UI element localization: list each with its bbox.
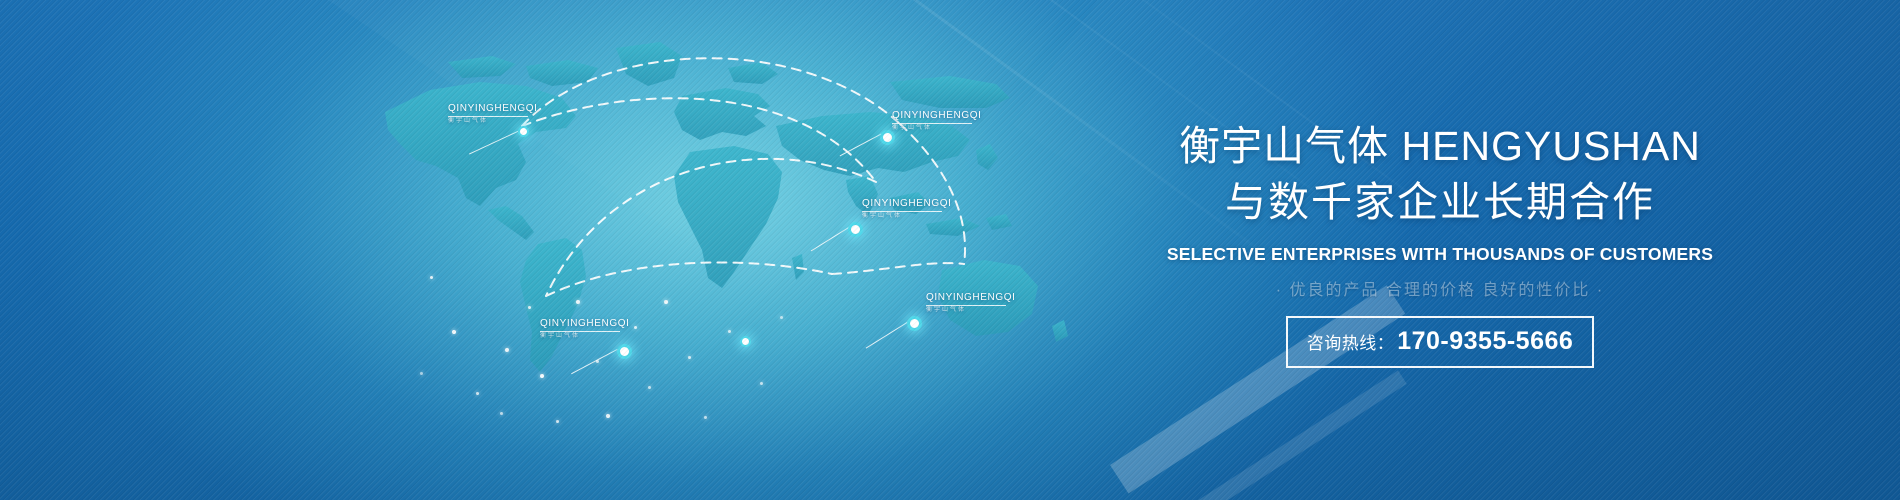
map-label-subtext: 衡宇山气体 [892, 124, 972, 132]
particle-dot [728, 330, 731, 333]
particle-dot [430, 276, 433, 279]
world-map-graphic [330, 20, 1090, 420]
map-label-subtext: 衡宇山气体 [540, 332, 620, 340]
particle-dot [556, 420, 559, 423]
particle-dot [780, 316, 783, 319]
map-label-text: QINYINGHENGQI [926, 292, 1006, 304]
particle-dot [505, 348, 509, 352]
particle-dot [760, 382, 763, 385]
subtitle: SELECTIVE ENTERPRISES WITH THOUSANDS OF … [1090, 244, 1790, 265]
particle-dot [576, 300, 580, 304]
marker-europe[interactable] [880, 130, 895, 145]
world-map-svg [330, 20, 1090, 420]
promo-banner: QINYINGHENGQI 衡宇山气体 QINYINGHENGQI 衡宇山气体 … [0, 0, 1900, 500]
map-label-text: QINYINGHENGQI [448, 103, 528, 115]
particle-dot [528, 306, 531, 309]
hotline-box[interactable]: 咨询热线： 170-9355-5666 [1286, 316, 1595, 368]
particle-dot [476, 392, 479, 395]
marker-north-america[interactable] [518, 126, 529, 137]
particle-dot [606, 414, 610, 418]
map-label-subtext: 衡宇山气体 [926, 306, 1006, 314]
particle-dot [634, 326, 637, 329]
banner-content: 衡宇山气体 HENGYUSHAN 与数千家企业长期合作 SELECTIVE EN… [1090, 118, 1790, 368]
hotline-wrapper: 咨询热线： 170-9355-5666 [1090, 316, 1790, 368]
map-label-subtext: 衡宇山气体 [448, 117, 528, 125]
diagonal-stripe-decoration [1180, 370, 1407, 500]
marker-oceania-extra [740, 336, 751, 347]
tagline: · 优良的产品 合理的价格 良好的性价比 · [1090, 276, 1790, 300]
map-label-asia: QINYINGHENGQI 衡宇山气体 [862, 198, 942, 220]
hotline-number: 170-9355-5666 [1397, 327, 1573, 356]
particle-dot [704, 416, 707, 419]
map-label-subtext: 衡宇山气体 [862, 212, 942, 220]
headline-line-1: 衡宇山气体 HENGYUSHAN [1090, 118, 1790, 174]
headline-line-2: 与数千家企业长期合作 [1090, 174, 1790, 230]
particle-dot [688, 356, 691, 359]
map-label-text: QINYINGHENGQI [862, 198, 942, 210]
headline: 衡宇山气体 HENGYUSHAN 与数千家企业长期合作 [1090, 118, 1790, 230]
map-label-europe: QINYINGHENGQI 衡宇山气体 [892, 110, 972, 132]
particle-dot [452, 330, 456, 334]
map-label-oceania: QINYINGHENGQI 衡宇山气体 [926, 292, 1006, 314]
particle-dot [420, 372, 423, 375]
continents-group [385, 42, 1068, 372]
particle-dot [664, 300, 668, 304]
map-label-text: QINYINGHENGQI [892, 110, 972, 122]
map-label-south-america: QINYINGHENGQI 衡宇山气体 [540, 318, 620, 340]
map-label-north-america: QINYINGHENGQI 衡宇山气体 [448, 103, 528, 125]
marker-asia[interactable] [848, 222, 863, 237]
marker-south-america[interactable] [617, 344, 632, 359]
marker-oceania[interactable] [907, 316, 922, 331]
hotline-label: 咨询热线： [1307, 329, 1395, 354]
particle-dot [648, 386, 651, 389]
particle-dot [540, 374, 544, 378]
particle-dot [500, 412, 503, 415]
map-label-text: QINYINGHENGQI [540, 318, 620, 330]
